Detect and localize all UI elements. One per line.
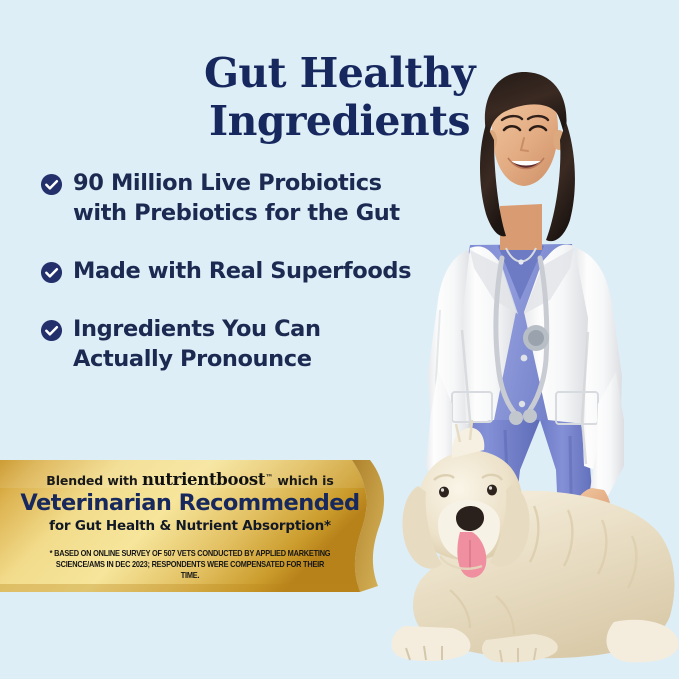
list-item-label: Ingredients You Can Actually Pronounce xyxy=(73,314,440,374)
veterinarian-recommended-banner: Blended with nutrientboost™ which is Vet… xyxy=(0,458,420,598)
banner-line-1-prefix: Blended with xyxy=(46,473,142,488)
list-item-label: Made with Real Superfoods xyxy=(73,256,440,286)
page-title: Gut Healthy Ingredients xyxy=(0,49,679,145)
banner-line-1: Blended with nutrientboost™ which is xyxy=(0,469,380,489)
list-item: Made with Real Superfoods xyxy=(40,256,440,286)
benefits-list: 90 Million Live Probiotics with Prebioti… xyxy=(40,168,440,374)
list-item: 90 Million Live Probiotics with Prebioti… xyxy=(40,168,440,228)
banner-line-1-suffix: which is xyxy=(273,473,334,488)
check-circle-icon xyxy=(40,319,63,342)
banner-line-3: for Gut Health & Nutrient Absorption* xyxy=(0,517,380,536)
page-title-line-1: Gut Healthy xyxy=(204,49,475,97)
trademark-symbol: ™ xyxy=(265,473,273,482)
list-item: Ingredients You Can Actually Pronounce xyxy=(40,314,440,374)
list-item-label: 90 Million Live Probiotics with Prebioti… xyxy=(73,168,440,228)
survey-disclaimer: * BASED ON ONLINE SURVEY OF 507 VETS CON… xyxy=(23,548,357,581)
banner-line-2: Veterinarian Recommended xyxy=(0,489,380,517)
banner-content: Blended with nutrientboost™ which is Vet… xyxy=(0,458,380,581)
brand-name-nutrientboost: nutrientboost xyxy=(142,470,265,489)
check-circle-icon xyxy=(40,173,63,196)
page-title-line-2: Ingredients xyxy=(0,97,679,145)
check-circle-icon xyxy=(40,261,63,284)
promo-infographic: Gut Healthy Ingredients 90 Million Live … xyxy=(0,0,679,679)
